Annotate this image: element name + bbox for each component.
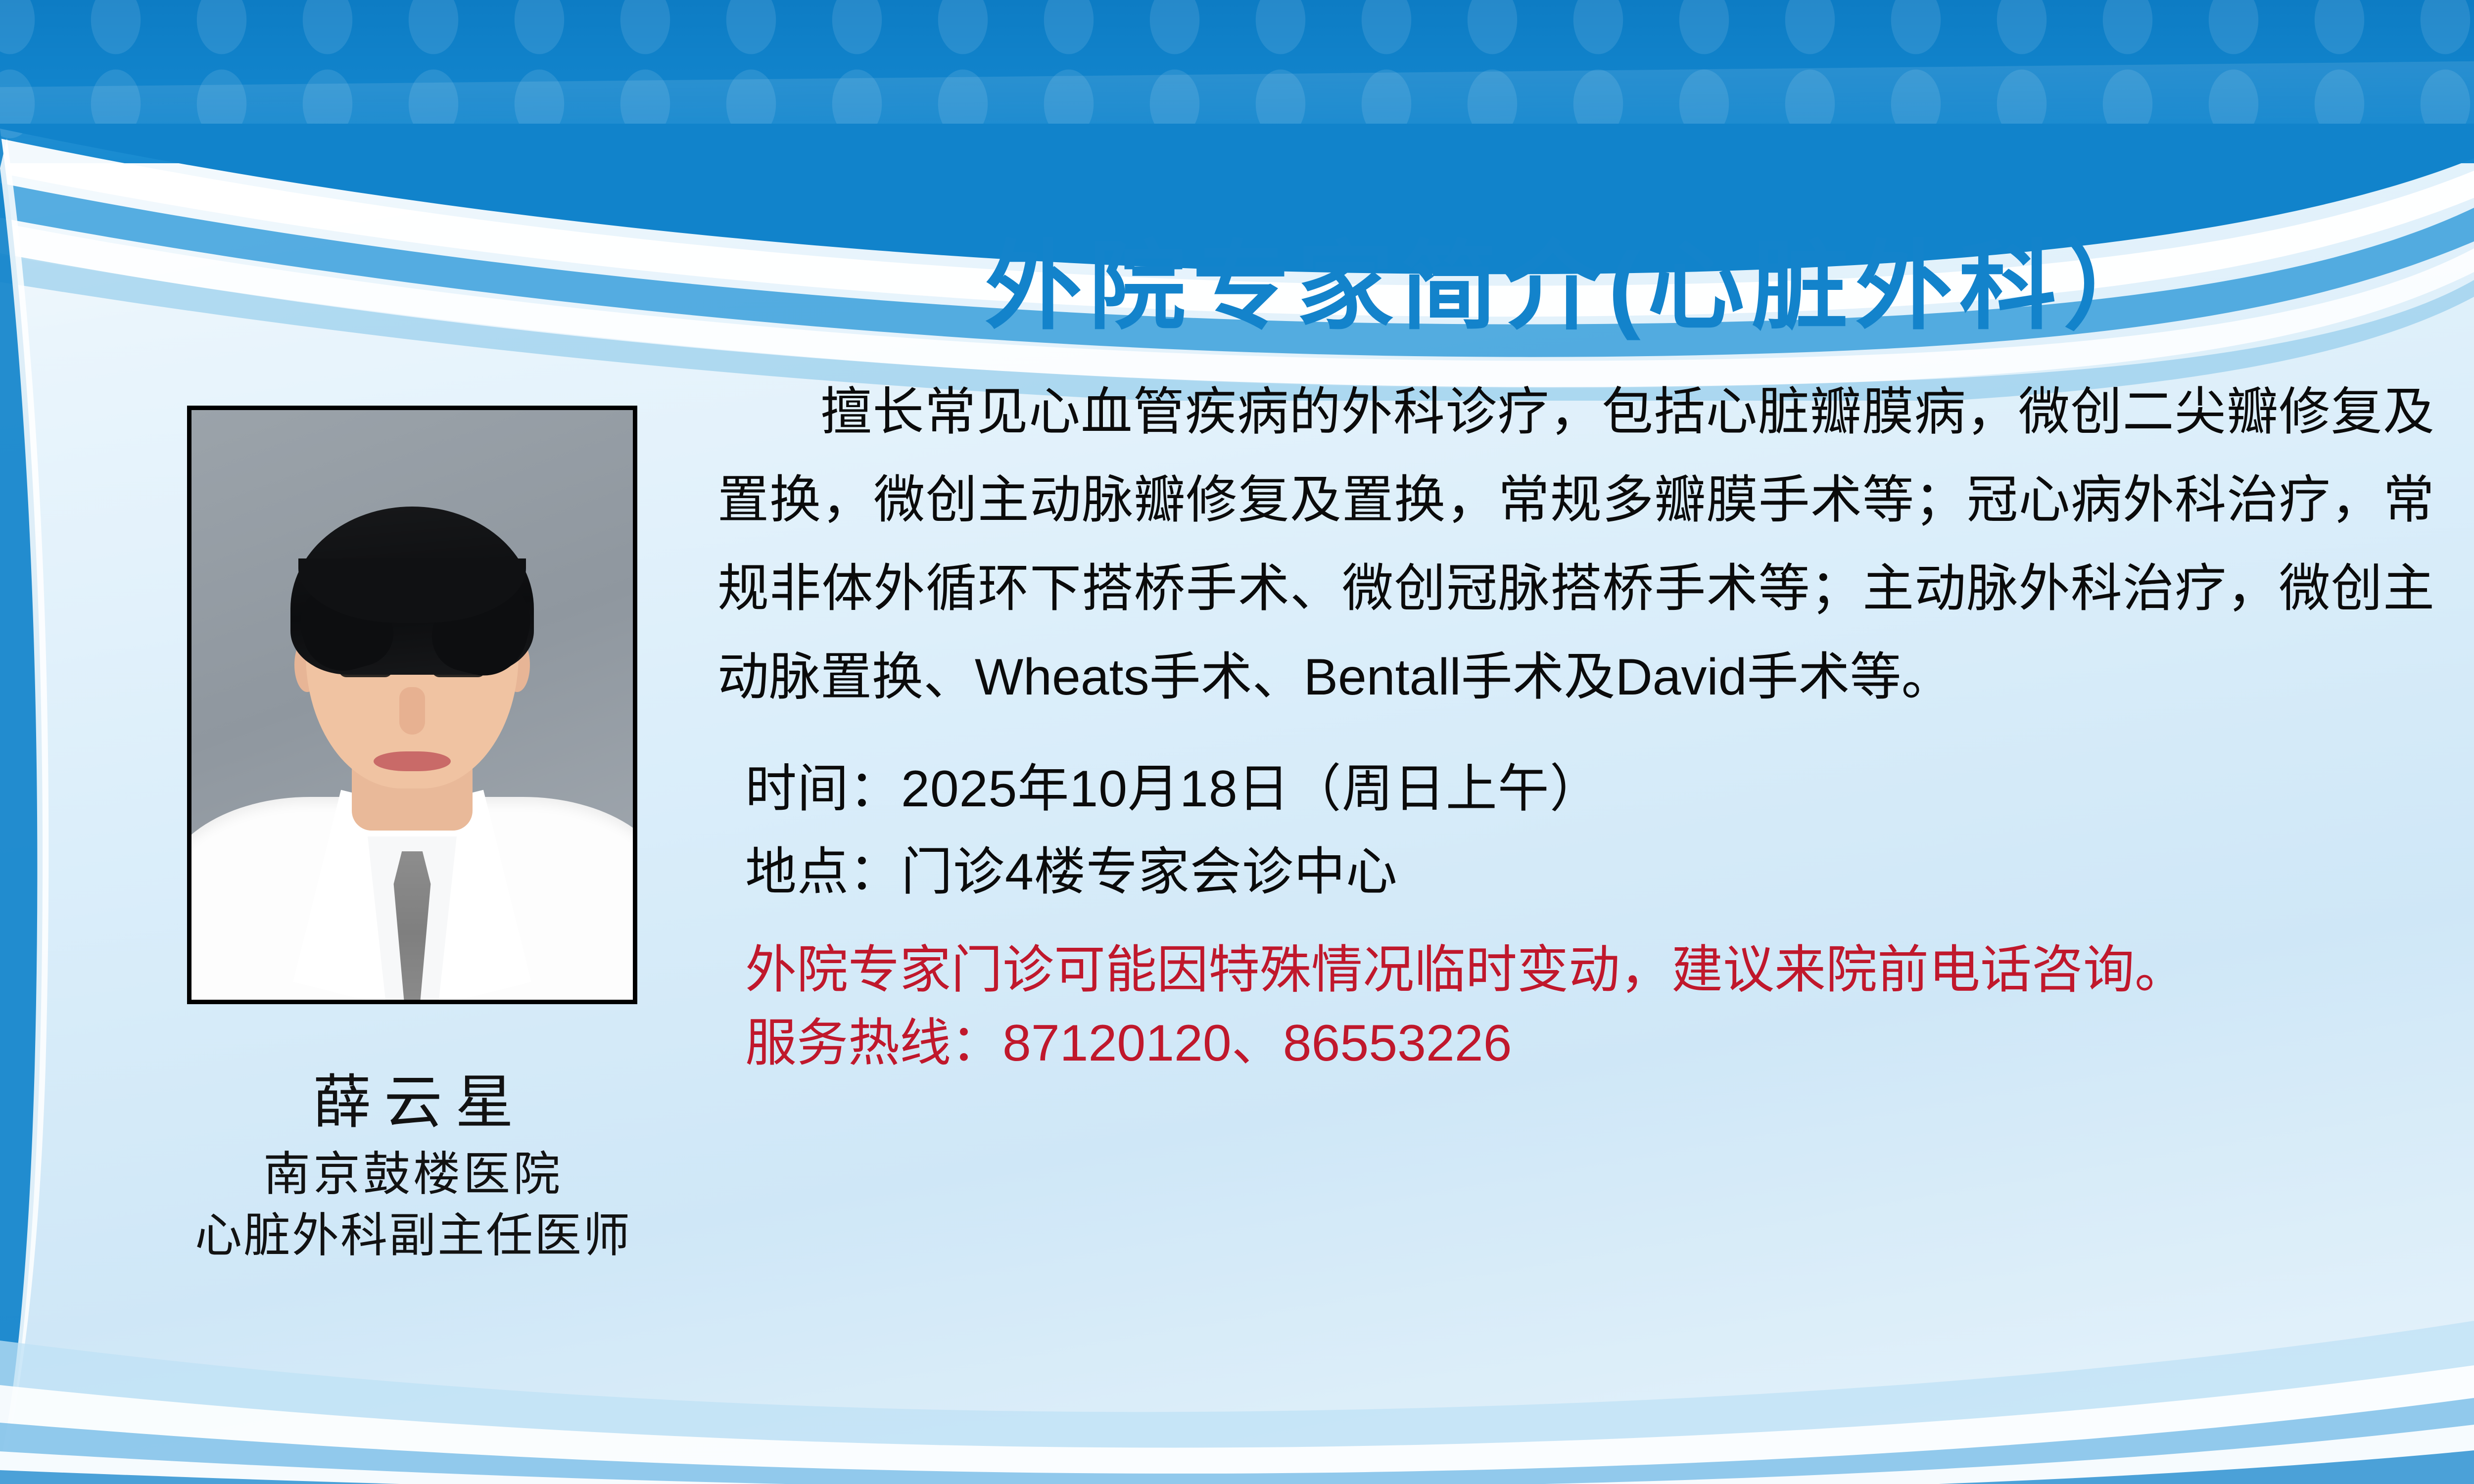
- expert-announcement-poster: 薛云星 南京鼓楼医院 心脏外科副主任医师 外院专家简介(心脏外科） 擅长常见心血…: [0, 0, 2474, 1484]
- notice-disclaimer: 外院专家门诊可能因特殊情况临时变动，建议来院前电话咨询。: [745, 934, 2434, 1007]
- schedule-block: 时间：2025年10月18日（周日上午） 地点：门诊4楼专家会诊中心: [717, 747, 2434, 914]
- schedule-location: 地点：门诊4楼专家会诊中心: [745, 831, 2434, 914]
- notice-block: 外院专家门诊可能因特殊情况临时变动，建议来院前电话咨询。 服务热线：871201…: [717, 934, 2434, 1080]
- doctor-portrait-photo: [187, 406, 637, 1004]
- portrait-mouth: [374, 751, 451, 771]
- doctor-job-title: 心脏外科副主任医师: [84, 1206, 742, 1267]
- notice-hotline: 服务热线：87120120、86553226: [745, 1007, 2434, 1080]
- main-content: 外院专家简介(心脏外科） 擅长常见心血管疾病的外科诊疗，包括心脏瓣膜病，微创二尖…: [717, 232, 2434, 1080]
- doctor-caption: 薛云星 南京鼓楼医院 心脏外科副主任医师: [84, 1068, 742, 1266]
- specialty-paragraph: 擅长常见心血管疾病的外科诊疗，包括心脏瓣膜病，微创二尖瓣修复及置换，微创主动脉瓣…: [717, 368, 2434, 722]
- page-title: 外院专家简介(心脏外科）: [717, 232, 2434, 341]
- doctor-name: 薛云星: [84, 1068, 742, 1137]
- schedule-time: 时间：2025年10月18日（周日上午）: [745, 747, 2434, 831]
- doctor-hospital: 南京鼓楼医院: [84, 1144, 742, 1206]
- portrait-nose: [399, 687, 425, 735]
